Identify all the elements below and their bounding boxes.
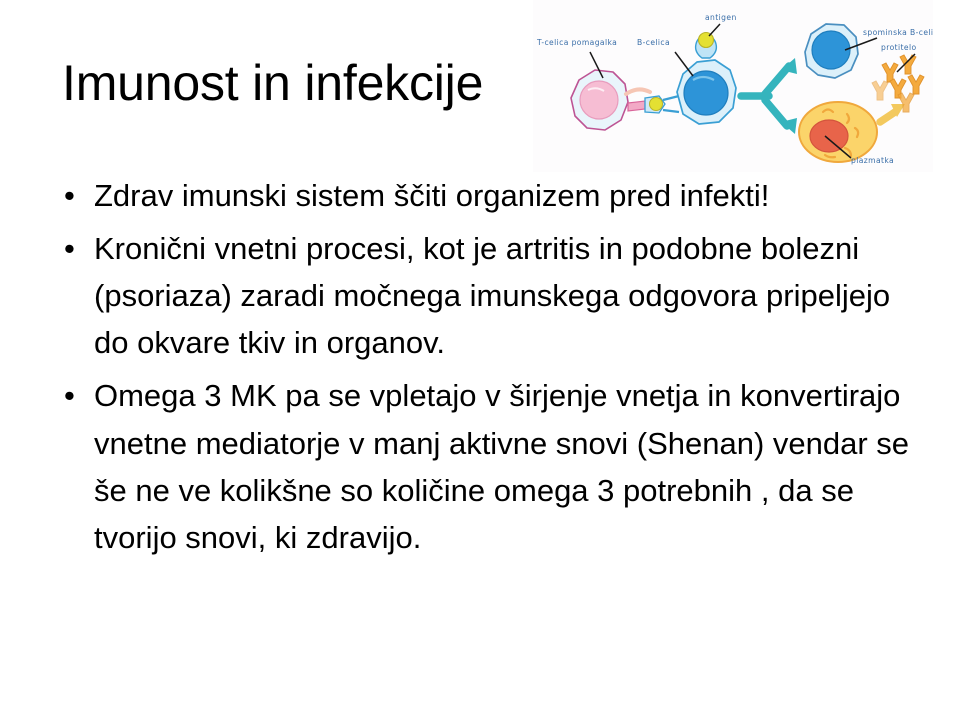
list-item: • Kronični vnetni procesi, kot je artrit… xyxy=(52,225,922,366)
bullet-glyph: • xyxy=(64,172,75,219)
list-item: • Omega 3 MK pa se vpletajo v širjenje v… xyxy=(52,372,922,560)
bullet-list: • Zdrav imunski sistem ščiti organizem p… xyxy=(52,172,922,567)
bullet-glyph: • xyxy=(64,225,75,272)
immune-response-illustration: T-celica pomagalka B-celica antigen spom… xyxy=(533,0,933,172)
list-item-text: Kronični vnetni procesi, kot je artritis… xyxy=(94,225,922,366)
list-item: • Zdrav imunski sistem ščiti organizem p… xyxy=(52,172,922,219)
list-item-text: Omega 3 MK pa se vpletajo v širjenje vne… xyxy=(94,372,922,560)
label-antigen: antigen xyxy=(705,13,737,22)
list-item-text: Zdrav imunski sistem ščiti organizem pre… xyxy=(94,172,922,219)
memory-b-cell-shape xyxy=(805,24,858,78)
slide-canvas: Imunost in infekcije xyxy=(0,0,960,720)
label-antibody: protitelo xyxy=(881,43,917,52)
label-t-helper-cell: T-celica pomagalka xyxy=(536,38,617,47)
label-plasma-cell: plazmatka xyxy=(851,156,894,165)
plasma-cell-shape xyxy=(799,102,877,162)
bullet-glyph: • xyxy=(64,372,75,419)
label-memory-b-cell: spominska B-celica xyxy=(863,28,933,37)
label-b-cell: B-celica xyxy=(637,38,670,47)
t-helper-cell-shape xyxy=(571,70,628,130)
